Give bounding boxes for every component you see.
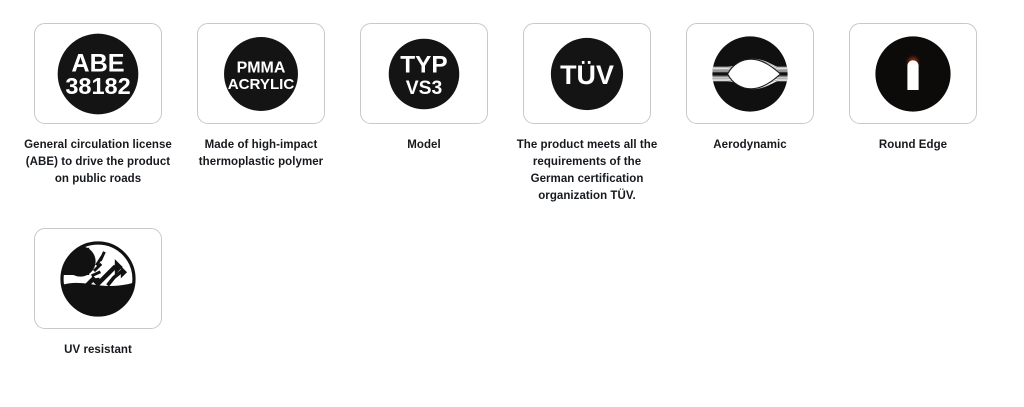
badge-caption: Aerodynamic [675,137,825,154]
abe-circle-icon: ABE 38182 [56,32,140,116]
badge-caption: The product meets all the requirements o… [512,137,662,205]
pmma-secondary-text: ACRYLIC [228,76,295,93]
badge-item-round-edge: Round Edge [849,23,977,154]
badge-caption: General circulation license (ABE) to dri… [23,137,173,188]
badge-card: TÜV [523,23,651,124]
typ-vs3-circle-icon: TYP VS3 [382,32,466,116]
badge-caption: Made of high-impact thermoplastic polyme… [186,137,336,171]
badge-item-tuv: TÜV The product meets all the requiremen… [523,23,651,205]
pmma-acrylic-circle-icon: PMMA ACRYLIC [219,32,303,116]
round-edge-icon [873,34,953,114]
typ-primary-text: TYP [400,51,447,78]
typ-secondary-text: VS3 [406,78,443,99]
badge-item-typ-vs3: TYP VS3 Model [360,23,488,154]
badge-item-uv-resistant: UV resistant [34,228,162,359]
badge-card: TYP VS3 [360,23,488,124]
badge-card [686,23,814,124]
badge-grid: ABE 38182 General circulation license (A… [0,0,1024,359]
badge-card: ABE 38182 [34,23,162,124]
tuv-primary-text: TÜV [560,60,614,90]
tuv-circle-icon: TÜV [545,32,629,116]
badge-card [849,23,977,124]
aerodynamic-airfoil-icon [710,34,790,114]
badge-card [34,228,162,329]
badge-item-aerodynamic: Aerodynamic [686,23,814,154]
pmma-primary-text: PMMA [237,59,286,76]
abe-secondary-text: 38182 [65,73,130,99]
badge-item-pmma-acrylic: PMMA ACRYLIC Made of high-impact thermop… [197,23,325,171]
badge-item-abe: ABE 38182 General circulation license (A… [34,23,162,188]
badge-caption: Model [349,137,499,154]
badge-caption: UV resistant [23,342,173,359]
badge-caption: Round Edge [838,137,988,154]
uv-resistant-sun-icon [58,239,138,319]
badge-card: PMMA ACRYLIC [197,23,325,124]
